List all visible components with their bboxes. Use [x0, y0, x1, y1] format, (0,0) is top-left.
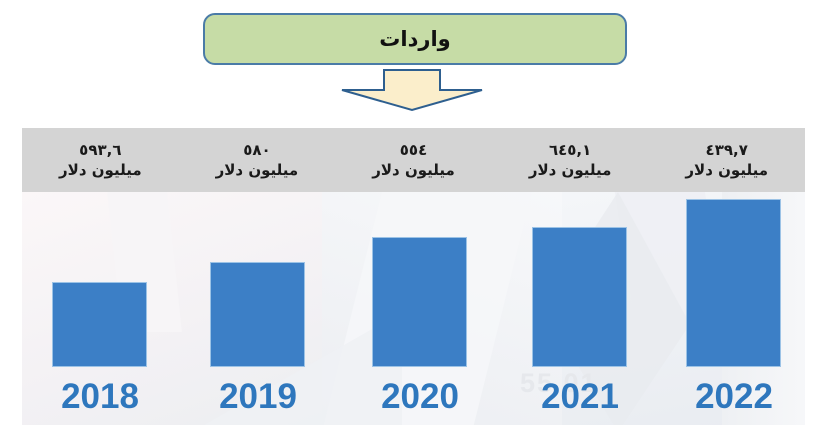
value-2022: ٥٩٣,٦	[79, 142, 121, 159]
value-cell-2022: ٥٩٣,٦ میلیون دلار	[22, 128, 179, 192]
year-label-2021: 2021	[510, 371, 650, 423]
chart-plot-area: 55 01 2018 2019 2020 2021 2022	[22, 192, 805, 425]
year-label-2018: 2018	[30, 371, 170, 423]
year-label-2020: 2020	[350, 371, 490, 423]
bar-2019	[210, 262, 305, 367]
bar-2021	[532, 227, 627, 367]
bar-2018	[52, 282, 147, 367]
unit-2020: میلیون دلار	[372, 162, 455, 179]
year-label-2022: 2022	[664, 371, 804, 423]
down-arrow-icon	[337, 68, 487, 112]
value-2019: ٦٤٥,١	[549, 142, 591, 159]
value-cell-2021: ٥٨٠ میلیون دلار	[179, 128, 336, 192]
year-axis: 2018 2019 2020 2021 2022	[22, 371, 805, 423]
value-cell-2020: ٥٥٤ میلیون دلار	[335, 128, 492, 192]
value-2021: ٥٨٠	[243, 142, 270, 159]
unit-2022: میلیون دلار	[59, 162, 142, 179]
value-2018: ٤٣٩,٧	[706, 142, 748, 159]
bar-2022	[686, 199, 781, 367]
bar-2020	[372, 237, 467, 367]
unit-2018: میلیون دلار	[685, 162, 768, 179]
page-title: واردات	[379, 29, 450, 50]
unit-2019: میلیون دلار	[529, 162, 612, 179]
infographic-root: واردات ٤٣٩,٧ میلیون دلار ٦٤٥,١ میلیون دل…	[0, 0, 822, 443]
value-cell-2018: ٤٣٩,٧ میلیون دلار	[648, 128, 805, 192]
year-label-2019: 2019	[188, 371, 328, 423]
value-cell-2019: ٦٤٥,١ میلیون دلار	[492, 128, 649, 192]
value-label-band: ٤٣٩,٧ میلیون دلار ٦٤٥,١ میلیون دلار ٥٥٤ …	[22, 128, 805, 192]
value-2020: ٥٥٤	[400, 142, 427, 159]
unit-2021: میلیون دلار	[216, 162, 299, 179]
title-banner: واردات	[203, 13, 627, 65]
